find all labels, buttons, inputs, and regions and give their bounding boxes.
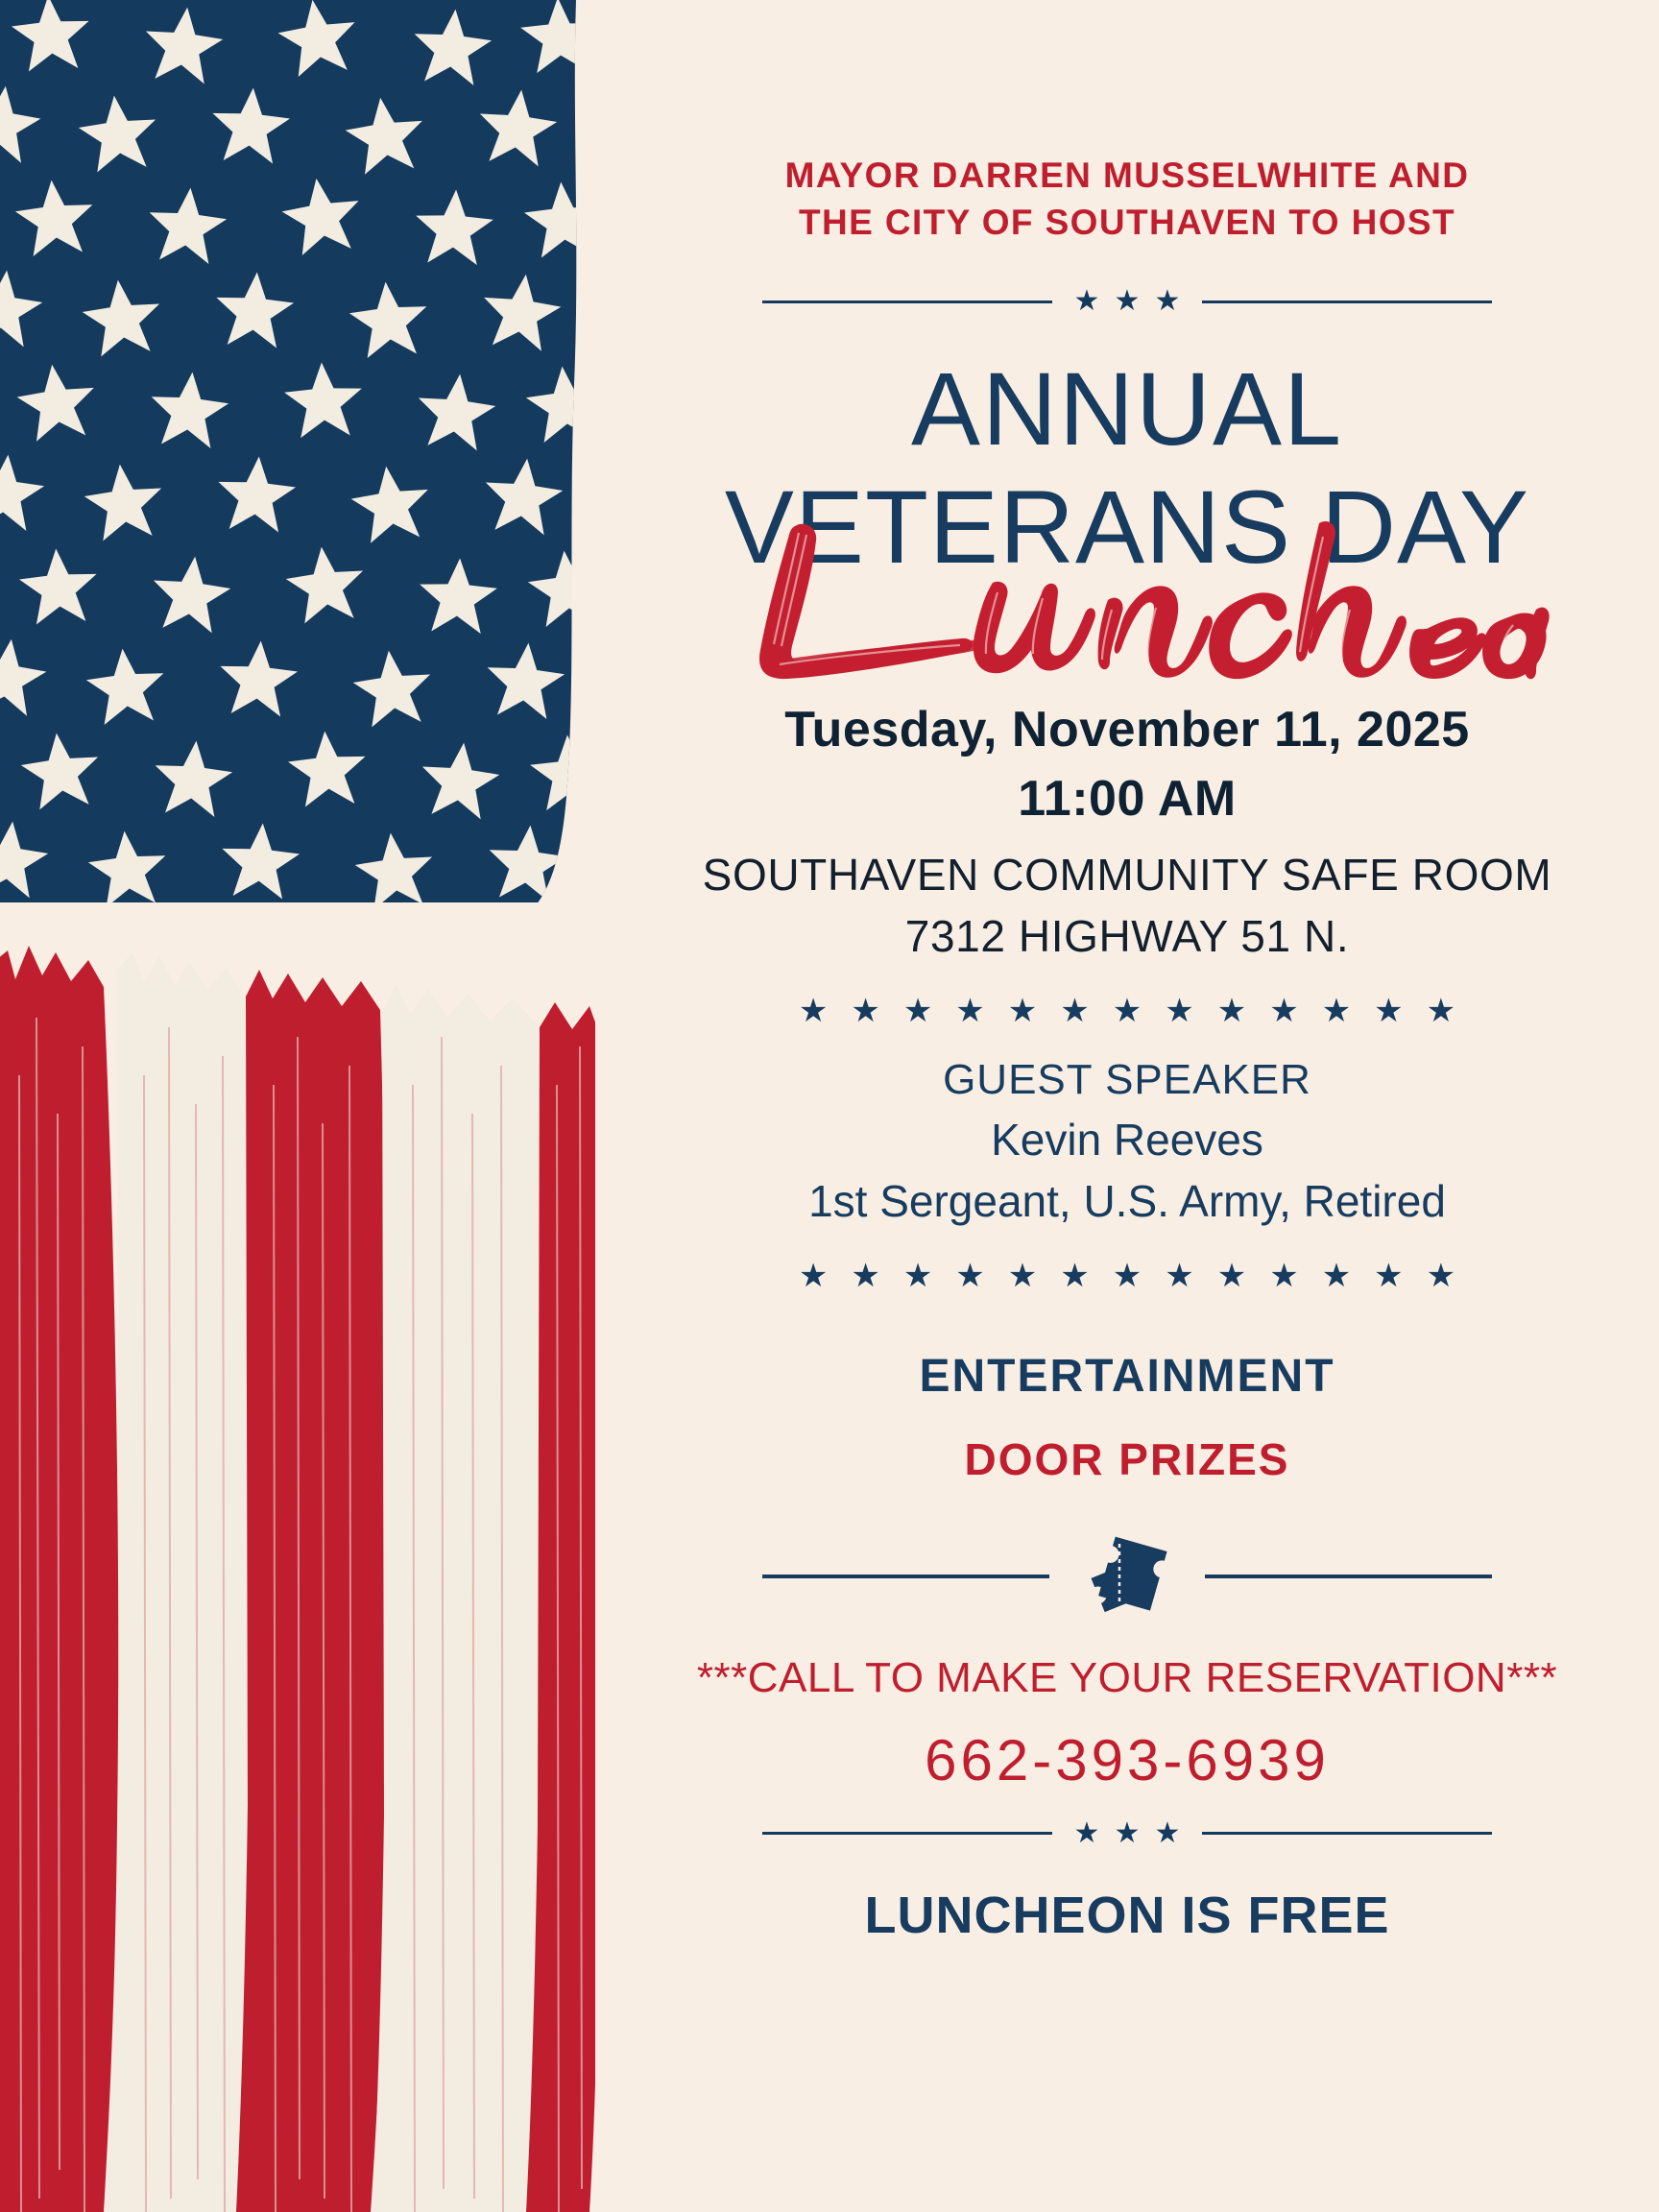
star-icon: ★ [1165,995,1193,1027]
star-icon: ★ [851,1260,879,1292]
divider-stars: ★ ★ ★ [1073,1820,1181,1847]
event-date: Tuesday, November 11, 2025 [784,701,1469,758]
divider-stars: ★ ★ ★ [1073,288,1181,315]
star-icon: ★ [1374,1260,1403,1292]
star-icon: ★ [1073,1820,1100,1847]
star-row-bottom: ★ ★ ★ ★ ★ ★ ★ ★ ★ ★ ★ ★ ★ [799,1260,1455,1292]
event-venue: SOUTHAVEN COMMUNITY SAFE ROOM [703,849,1552,901]
star-icon: ★ [1269,995,1298,1027]
star-icon: ★ [1269,1260,1298,1292]
star-icon: ★ [1113,995,1142,1027]
star-icon: ★ [1322,995,1351,1027]
star-icon: ★ [1060,1260,1089,1292]
star-icon: ★ [799,1260,828,1292]
entertainment-text: ENTERTAINMENT [919,1350,1334,1403]
reservation-call-text: ***CALL TO MAKE YOUR RESERVATION*** [697,1654,1557,1702]
guest-speaker-label: GUEST SPEAKER [943,1056,1311,1104]
divider-rule-left [762,1575,1049,1578]
event-address: 7312 HIGHWAY 51 N. [905,910,1349,962]
reservation-phone[interactable]: 662-393-6939 [925,1727,1330,1793]
star-icon: ★ [1154,1820,1181,1847]
star-icon: ★ [1073,288,1100,315]
divider-rule-right [1202,301,1492,303]
star-icon: ★ [1008,1260,1037,1292]
title-line-1: ANNUAL [633,357,1622,461]
divider-ticket [762,1524,1492,1629]
divider-top: ★ ★ ★ [762,288,1492,315]
poster-content: MAYOR DARREN MUSSELWHITE AND THE CITY OF… [595,0,1659,2212]
star-icon: ★ [1114,288,1141,315]
star-icon: ★ [1374,995,1403,1027]
star-icon: ★ [1427,1260,1455,1292]
door-prizes-text: DOOR PRIZES [965,1433,1290,1485]
star-icon: ★ [1154,288,1181,315]
star-icon: ★ [1165,1260,1193,1292]
star-row-top: ★ ★ ★ ★ ★ ★ ★ ★ ★ ★ ★ ★ ★ [799,995,1455,1027]
poster-canvas: MAYOR DARREN MUSSELWHITE AND THE CITY OF… [0,0,1659,2212]
star-icon: ★ [955,995,984,1027]
star-icon: ★ [903,1260,932,1292]
star-icon: ★ [1008,995,1037,1027]
event-time: 11:00 AM [1018,770,1237,828]
title-block: ANNUAL VETERANS DAY [633,357,1622,694]
ticket-pair-icon [1074,1524,1180,1629]
star-icon: ★ [903,995,932,1027]
star-icon: ★ [955,1260,984,1292]
title-script-word [633,513,1622,695]
guest-speaker-name: Kevin Reeves [991,1114,1263,1166]
divider-rule-right [1205,1575,1492,1578]
host-line-1: MAYOR DARREN MUSSELWHITE AND [785,152,1470,199]
star-icon: ★ [1217,1260,1246,1292]
star-icon: ★ [1113,1260,1142,1292]
flag-artwork [0,0,595,2212]
divider-rule-left [762,1832,1052,1835]
star-icon: ★ [1114,1820,1141,1847]
star-icon: ★ [799,995,828,1027]
star-icon: ★ [1322,1260,1351,1292]
star-icon: ★ [851,995,879,1027]
guest-speaker-rank: 1st Sergeant, U.S. Army, Retired [808,1175,1446,1227]
luncheon-free-text: LUNCHEON IS FREE [864,1886,1389,1945]
divider-rule-right [1202,1832,1492,1835]
divider-bottom: ★ ★ ★ [762,1820,1492,1847]
divider-rule-left [762,301,1052,303]
star-icon: ★ [1427,995,1455,1027]
host-line: MAYOR DARREN MUSSELWHITE AND THE CITY OF… [785,0,1470,246]
host-line-2: THE CITY OF SOUTHAVEN TO HOST [785,199,1470,246]
star-icon: ★ [1217,995,1246,1027]
star-icon: ★ [1060,995,1089,1027]
